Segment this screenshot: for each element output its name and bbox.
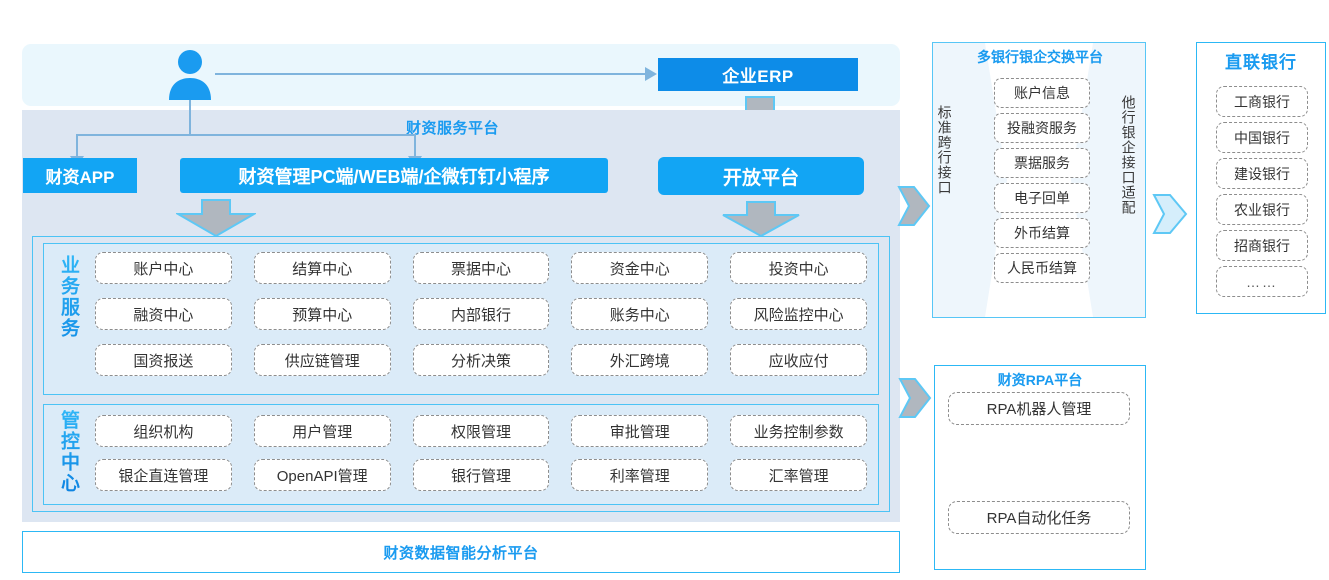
direct-bank-item[interactable]: 中国银行 [1216, 122, 1308, 153]
management-item[interactable]: 汇率管理 [730, 459, 867, 491]
direct-bank-item[interactable]: 工商银行 [1216, 86, 1308, 117]
multibank-item[interactable]: 票据服务 [994, 148, 1090, 178]
service-item[interactable]: 账务中心 [571, 298, 708, 330]
management-item[interactable]: OpenAPI管理 [254, 459, 391, 491]
multibank-item[interactable]: 外币结算 [994, 218, 1090, 248]
user-to-erp-line [215, 73, 647, 75]
enterprise-erp-box[interactable]: 企业ERP [658, 58, 858, 91]
user-icon [165, 48, 215, 100]
rpa-item[interactable]: RPA自动化任务 [948, 501, 1130, 534]
data-analysis-platform-bar: 财资数据智能分析平台 [22, 531, 900, 573]
management-item[interactable]: 权限管理 [413, 415, 550, 447]
service-item[interactable]: 应收应付 [730, 344, 867, 376]
management-item[interactable]: 利率管理 [571, 459, 708, 491]
management-item[interactable]: 业务控制参数 [730, 415, 867, 447]
service-item[interactable]: 外汇跨境 [571, 344, 708, 376]
right-arrow-to-multibank [897, 175, 931, 237]
right-arrow-to-rpa [898, 368, 932, 428]
service-item[interactable]: 分析决策 [413, 344, 550, 376]
other-bank-adapter-label: 他行银企接口适配 [1120, 95, 1136, 265]
direct-bank-panel-title: 直联银行 [1196, 48, 1326, 73]
service-item[interactable]: 投资中心 [730, 252, 867, 284]
management-item[interactable]: 组织机构 [95, 415, 232, 447]
tree-trunk-line [189, 100, 191, 136]
direct-bank-item-more[interactable]: …… [1216, 266, 1308, 297]
service-item[interactable]: 内部银行 [413, 298, 550, 330]
direct-bank-list: 工商银行 中国银行 建设银行 农业银行 招商银行 …… [1216, 86, 1308, 297]
service-item[interactable]: 供应链管理 [254, 344, 391, 376]
tree-branch-right [414, 134, 416, 158]
multibank-item[interactable]: 账户信息 [994, 78, 1090, 108]
service-item[interactable]: 风险监控中心 [730, 298, 867, 330]
direct-bank-item[interactable]: 农业银行 [1216, 194, 1308, 225]
tree-branch-left [76, 134, 78, 158]
platform-title: 财资服务平台 [406, 117, 499, 138]
management-item[interactable]: 用户管理 [254, 415, 391, 447]
service-item[interactable]: 资金中心 [571, 252, 708, 284]
multibank-item[interactable]: 投融资服务 [994, 113, 1090, 143]
down-arrow-pc-to-services [176, 198, 256, 238]
service-item[interactable]: 票据中心 [413, 252, 550, 284]
tree-horizontal-line [76, 134, 416, 136]
service-item[interactable]: 预算中心 [254, 298, 391, 330]
rpa-item[interactable]: RPA机器人管理 [948, 392, 1130, 425]
business-services-label: 业务服务 [55, 255, 82, 383]
down-arrow-open-to-services [721, 200, 801, 238]
business-services-grid: 账户中心 结算中心 票据中心 资金中心 投资中心 融资中心 预算中心 内部银行 … [95, 252, 867, 376]
channel-app-button[interactable]: 财资APP [23, 158, 137, 193]
service-item[interactable]: 国资报送 [95, 344, 232, 376]
direct-bank-item[interactable]: 建设银行 [1216, 158, 1308, 189]
multibank-service-list: 账户信息 投融资服务 票据服务 电子回单 外币结算 人民币结算 [994, 78, 1090, 283]
management-center-grid: 组织机构 用户管理 权限管理 审批管理 业务控制参数 银企直连管理 OpenAP… [95, 415, 867, 491]
channel-open-platform-button[interactable]: 开放平台 [658, 157, 864, 195]
service-item[interactable]: 结算中心 [254, 252, 391, 284]
standard-interface-label: 标准跨行接口 [936, 105, 952, 255]
right-arrow-to-direct-bank [1152, 183, 1188, 245]
management-center-label: 管控中心 [55, 410, 82, 500]
service-item[interactable]: 账户中心 [95, 252, 232, 284]
management-item[interactable]: 银行管理 [413, 459, 550, 491]
management-item[interactable]: 审批管理 [571, 415, 708, 447]
user-to-erp-arrowhead [645, 67, 657, 81]
management-item[interactable]: 银企直连管理 [95, 459, 232, 491]
rpa-panel-title: 财资RPA平台 [934, 370, 1146, 390]
channel-pc-web-button[interactable]: 财资管理PC端/WEB端/企微钉钉小程序 [180, 158, 608, 193]
multibank-panel-title: 多银行银企交换平台 [965, 47, 1115, 67]
multibank-item[interactable]: 电子回单 [994, 183, 1090, 213]
architecture-diagram: 企业ERP 财资服务平台 财资APP 财资管理PC端/WEB端/企微钉钉小程序 … [0, 0, 1329, 580]
direct-bank-item[interactable]: 招商银行 [1216, 230, 1308, 261]
multibank-item[interactable]: 人民币结算 [994, 253, 1090, 283]
service-item[interactable]: 融资中心 [95, 298, 232, 330]
